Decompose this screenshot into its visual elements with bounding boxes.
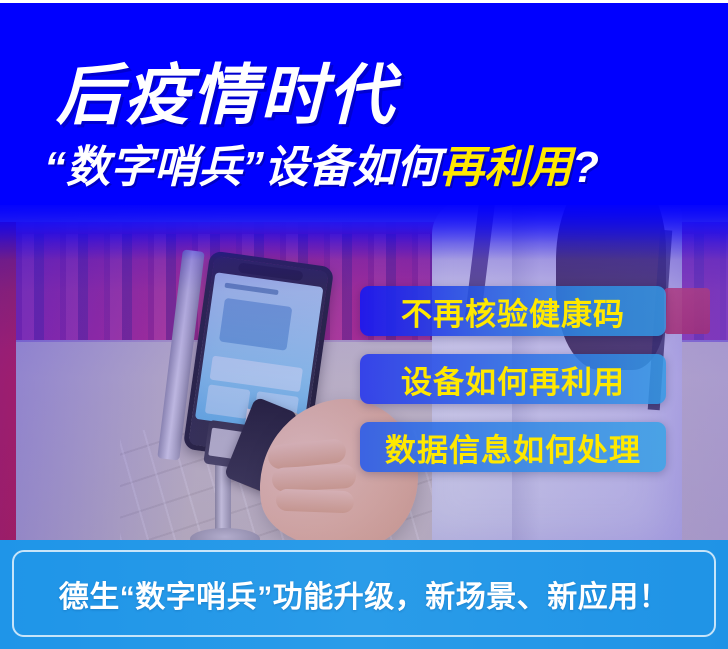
topic-pill-list: 不再核验健康码 设备如何再利用 数据信息如何处理 bbox=[360, 286, 666, 472]
topic-pill-health-code[interactable]: 不再核验健康码 bbox=[360, 286, 666, 336]
page-subtitle: “数字哨兵”设备如何再利用? bbox=[0, 143, 728, 192]
top-white-strip bbox=[0, 0, 728, 3]
topic-pill-label: 设备如何再利用 bbox=[401, 357, 625, 402]
blue-photo-blend bbox=[0, 200, 728, 260]
bottom-banner: 德生“数字哨兵”功能升级，新场景、新应用！ bbox=[0, 540, 728, 649]
headline-block: 后疫情时代 “数字哨兵”设备如何再利用? bbox=[0, 60, 728, 193]
page-title: 后疫情时代 bbox=[0, 60, 728, 131]
poster-root: 后疫情时代 “数字哨兵”设备如何再利用? 不再核验健康码 设备如何再利用 数据信… bbox=[0, 0, 728, 649]
subtitle-highlight: 再利用 bbox=[440, 143, 572, 192]
subtitle-suffix: ? bbox=[572, 143, 599, 192]
topic-pill-label: 数据信息如何处理 bbox=[385, 425, 641, 470]
subtitle-prefix: “数字哨兵”设备如何 bbox=[44, 143, 440, 192]
topic-pill-label: 不再核验健康码 bbox=[401, 289, 625, 334]
bottom-banner-text: 德生“数字哨兵”功能升级，新场景、新应用！ bbox=[59, 572, 670, 616]
topic-pill-data-handling[interactable]: 数据信息如何处理 bbox=[360, 422, 666, 472]
bottom-banner-frame: 德生“数字哨兵”功能升级，新场景、新应用！ bbox=[12, 550, 716, 637]
topic-pill-device-reuse[interactable]: 设备如何再利用 bbox=[360, 354, 666, 404]
